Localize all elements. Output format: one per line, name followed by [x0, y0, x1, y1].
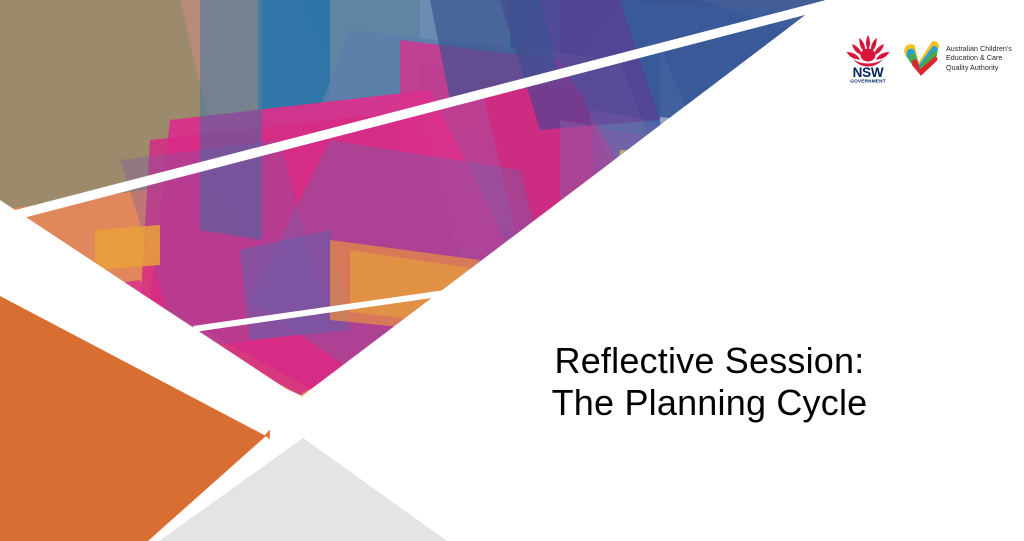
nsw-subtitle: GOVERNMENT — [850, 79, 886, 85]
logo-lockup: NSW GOVERNMENT Australian Children's Edu… — [843, 31, 1019, 87]
slide-canvas: NSW GOVERNMENT Australian Children's Edu… — [0, 0, 1024, 541]
acecqa-line-2: Education & Care — [946, 54, 1012, 63]
nsw-wordmark: NSW — [853, 65, 884, 80]
title-line-2: The Planning Cycle — [452, 382, 967, 424]
acecqa-heart-tick-icon — [901, 39, 941, 79]
slide-title: Reflective Session: The Planning Cycle — [452, 340, 967, 424]
title-line-1: Reflective Session: — [452, 340, 967, 382]
acecqa-line-1: Australian Children's — [946, 45, 1012, 54]
acecqa-line-3: Quality Authority — [946, 64, 1012, 73]
waratah-icon — [847, 35, 890, 67]
nsw-government-logo: NSW GOVERNMENT — [843, 33, 893, 85]
acecqa-logo: Australian Children's Education & Care Q… — [901, 39, 1012, 79]
acecqa-wordmark: Australian Children's Education & Care Q… — [946, 45, 1012, 73]
